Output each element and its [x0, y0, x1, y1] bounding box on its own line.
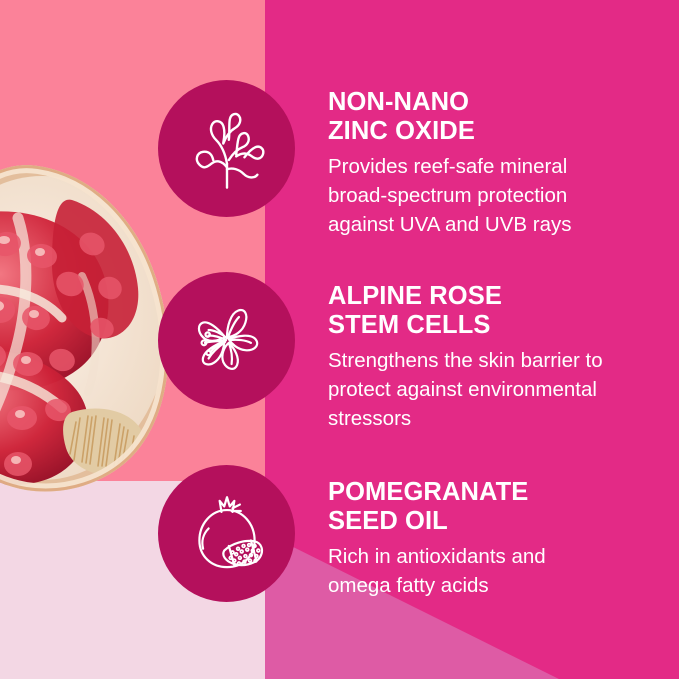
benefit-title-1: NON-NANO ZINC OXIDE	[328, 88, 628, 146]
pomegranate-fruit-icon	[181, 488, 273, 580]
coral-branch-icon	[181, 103, 273, 195]
benefit-text-block-2: ALPINE ROSE STEM CELLS Strengthens the s…	[328, 282, 628, 433]
benefit-description-2: Strengthens the skin barrier to protect …	[328, 346, 628, 433]
benefit-text-block-1: NON-NANO ZINC OXIDE Provides reef-safe m…	[328, 88, 628, 239]
benefit-title-3: POMEGRANATE SEED OIL	[328, 478, 628, 536]
benefit-description-3: Rich in antioxidants and omega fatty aci…	[328, 542, 628, 600]
ingredient-benefits-poster: NON-NANO ZINC OXIDE Provides reef-safe m…	[0, 0, 679, 679]
benefit-description-1: Provides reef-safe mineral broad-spectru…	[328, 152, 628, 239]
benefit-title-2: ALPINE ROSE STEM CELLS	[328, 282, 628, 340]
benefit-icon-circle-1	[158, 80, 295, 217]
benefit-text-block-3: POMEGRANATE SEED OIL Rich in antioxidant…	[328, 478, 628, 600]
benefit-icon-circle-2	[158, 272, 295, 409]
benefit-icon-circle-3	[158, 465, 295, 602]
alpine-rose-flower-icon	[181, 295, 273, 387]
